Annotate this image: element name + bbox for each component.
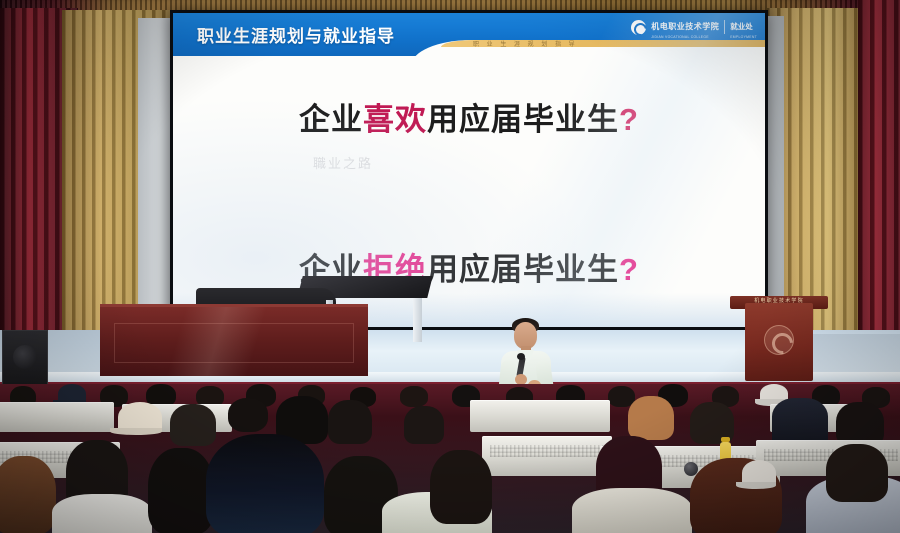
audience-cap [58,384,86,404]
audience-head [228,398,268,432]
line1-prefix: 企业 [299,102,363,137]
audience-backpack [772,398,828,444]
slide-header-bar: 职 业 生 涯 规 划 指 导 职业生涯规划与就业指导 机电职业技术学院 JID… [173,13,765,56]
audience-hair-long [170,404,216,446]
line2-question-mark: ? [619,252,639,287]
audience-head [400,386,428,407]
barrier-sheen [100,307,368,376]
presenter-head [514,322,537,349]
school-logo-text: 机电职业技术学院 JIDIAN VOCATIONAL COLLEGE [651,16,719,39]
spiral-logo-icon [631,20,646,35]
water-bottle-cap [721,437,730,442]
logo-right-sub: EMPLOYMENT [730,35,757,39]
audience-shoulders [572,488,692,533]
seat-back [0,402,114,432]
audience-hair-long [826,444,888,502]
header-gold-strip-text: 职 业 生 涯 规 划 指 导 [473,39,763,48]
stage-wooden-barrier [100,304,368,376]
podium [745,303,813,381]
audience-hair-long [430,450,492,524]
speaker-cone-icon [13,345,37,369]
school-logo: 机电职业技术学院 JIDIAN VOCATIONAL COLLEGE 就业处 E… [631,18,757,36]
audience-hair-long [628,396,674,440]
audience-hair-long [404,406,444,444]
logo-right-label: 就业处 [730,22,753,31]
audience-area [0,384,900,533]
audience-hair-long [148,448,214,533]
lecture-hall-photo: 职 业 生 涯 规 划 指 导 职业生涯规划与就业指导 机电职业技术学院 JID… [0,0,900,533]
student-desk [482,436,612,476]
line1-question-mark: ? [619,102,639,137]
line1-suffix: 用应届毕业生 [427,102,619,137]
projection-screen: 职 业 生 涯 规 划 指 导 职业生涯规划与就业指导 机电职业技术学院 JID… [170,10,768,330]
audience-hair-long [0,456,56,533]
desk-perforation [490,445,604,457]
slide-watermark: 職业之路 [313,153,373,172]
line1-highlight: 喜欢 [363,102,427,137]
slide-question-line-2: 企业拒绝用应届毕业生? [173,244,765,289]
slide-body: 職业之路 企业喜欢用应届毕业生? 企业拒绝用应届毕业生? [173,56,765,327]
slide-title: 职业生涯规划与就业指导 [197,22,395,47]
microphone-head [517,353,525,360]
line2-suffix: 用应届毕业生 [427,252,619,287]
slide-surface: 职 业 生 涯 规 划 指 导 职业生涯规划与就业指导 机电职业技术学院 JID… [173,13,765,327]
logo-divider [724,20,725,34]
audience-hair-long [328,400,372,444]
seat-back [470,400,610,432]
hair-scrunchie [742,460,776,486]
audience-hair-long [206,434,324,533]
audience-shoulders [52,494,152,533]
slide-question-line-1: 企业喜欢用应届毕业生? [173,94,765,139]
spiral-emblem-icon [764,325,794,355]
logo-right-block: 就业处 EMPLOYMENT [730,16,757,39]
school-name-sub: JIDIAN VOCATIONAL COLLEGE [651,35,719,39]
school-name: 机电职业技术学院 [651,22,719,31]
curtain-red-right [858,0,900,350]
audience-cap [118,402,162,432]
piano-leg-right [413,298,422,342]
